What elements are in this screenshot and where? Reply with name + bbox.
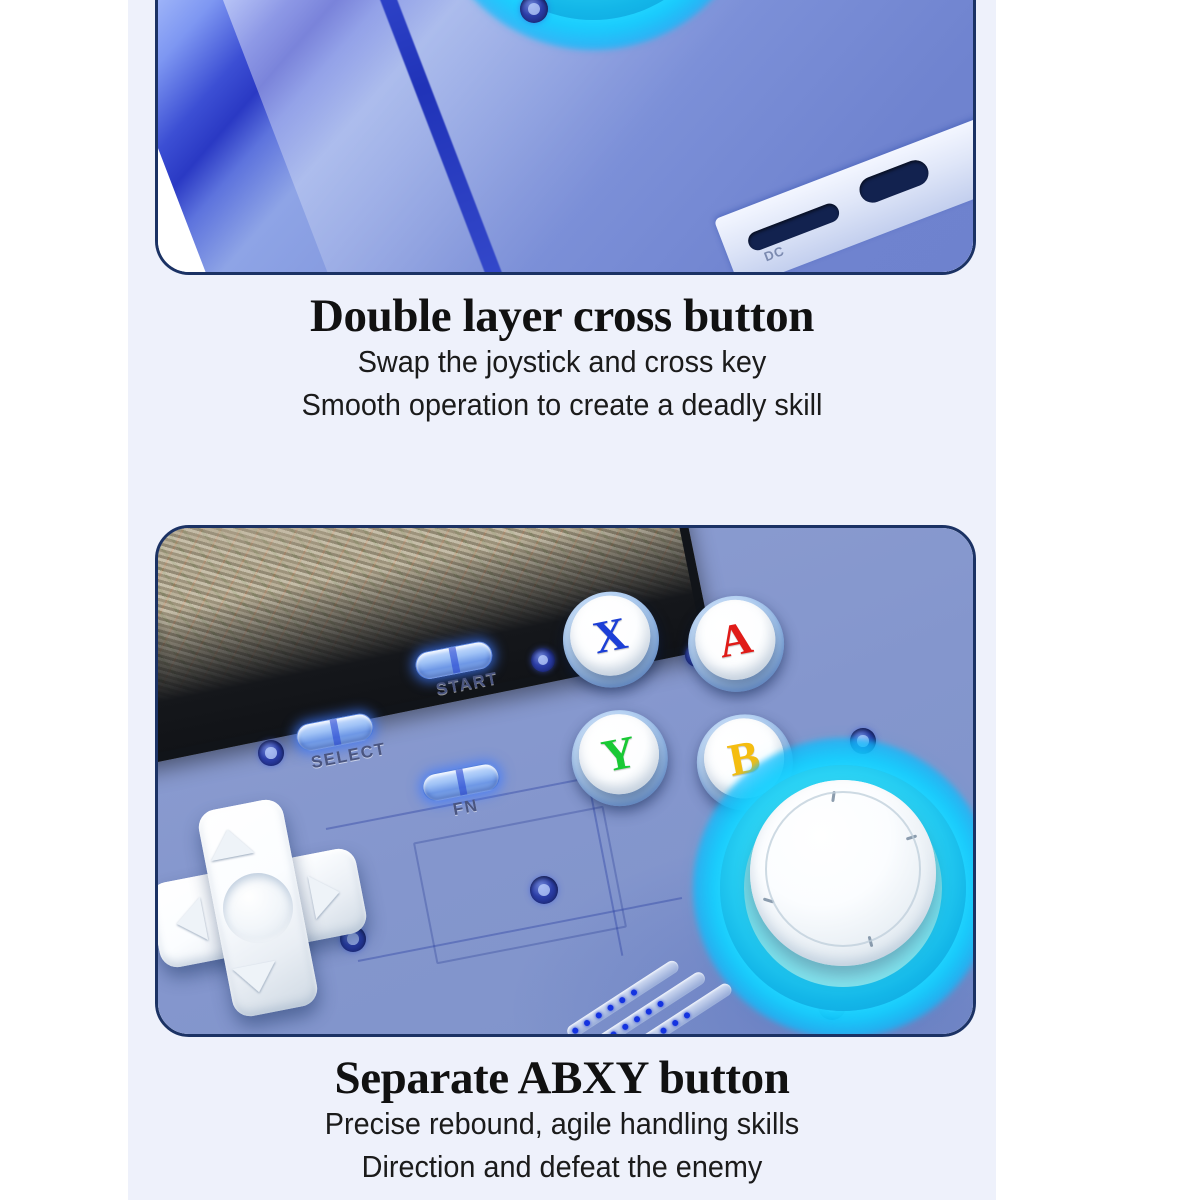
feature-subtitle-2: Direction and defeat the enemy	[158, 1146, 965, 1189]
dpad[interactable]	[155, 785, 381, 1031]
caption-joystick: Double layer cross button Swap the joyst…	[128, 292, 996, 427]
chassis-screw	[530, 876, 558, 904]
button-a-label: A	[715, 614, 756, 665]
feature-subtitle-2: Smooth operation to create a deadly skil…	[158, 384, 965, 427]
feature-subtitle-1: Precise rebound, agile handling skills	[158, 1103, 965, 1146]
analog-stick[interactable]	[428, 0, 758, 50]
button-y-label: Y	[598, 728, 639, 779]
feature-card-abxy: SELECT START FN X A	[155, 525, 976, 1037]
button-x-label: X	[590, 610, 631, 661]
chassis-screw	[258, 740, 284, 766]
chassis-screw	[531, 648, 555, 672]
feature-card-joystick: DC	[155, 0, 976, 275]
dc-port-hole	[745, 201, 841, 253]
feature-title: Separate ABXY button	[128, 1054, 996, 1103]
abxy-product-photo: SELECT START FN X A	[158, 528, 973, 1034]
feature-subtitle-1: Swap the joystick and cross key	[158, 341, 965, 384]
joystick-product-photo: DC	[158, 0, 973, 272]
stick-cap[interactable]	[750, 780, 936, 966]
feature-page: DC Double layer cross button Swap the jo…	[0, 0, 1200, 1200]
usb-port-hole	[856, 156, 933, 206]
feature-title: Double layer cross button	[128, 292, 996, 341]
caption-abxy: Separate ABXY button Precise rebound, ag…	[128, 1054, 996, 1189]
